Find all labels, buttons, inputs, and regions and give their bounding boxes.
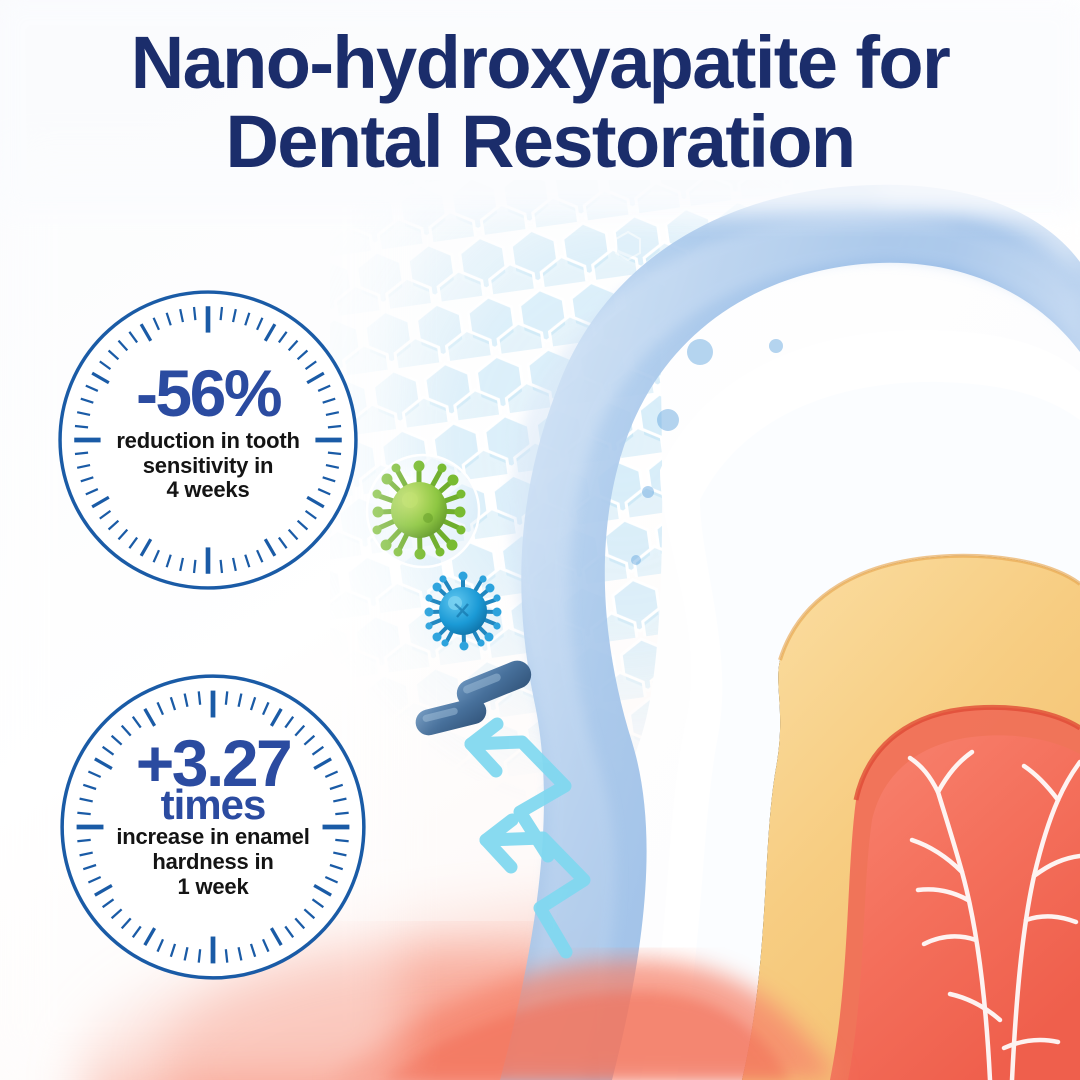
stat-label-line-3: 1 week <box>89 875 337 900</box>
stat-unit: times <box>89 786 337 824</box>
stat-badge-sensitivity: -56% reduction in tooth sensitivity in 4… <box>56 288 360 578</box>
stat-label-line-2: hardness in <box>89 850 337 875</box>
infographic-canvas: Nano-hydroxyapatite for Dental Restorati… <box>0 0 1080 1080</box>
stat-badge-hardness: +3.27 times increase in enamel hardness … <box>58 672 368 960</box>
stat-label-line-1: increase in enamel <box>89 825 337 850</box>
pulp <box>830 707 1080 1080</box>
stat-label-line-3: 4 weeks <box>86 478 329 503</box>
stat-value: -56% <box>86 363 329 424</box>
stat-label-line-2: sensitivity in <box>86 454 329 479</box>
stat-label-line-1: reduction in tooth <box>86 429 329 454</box>
